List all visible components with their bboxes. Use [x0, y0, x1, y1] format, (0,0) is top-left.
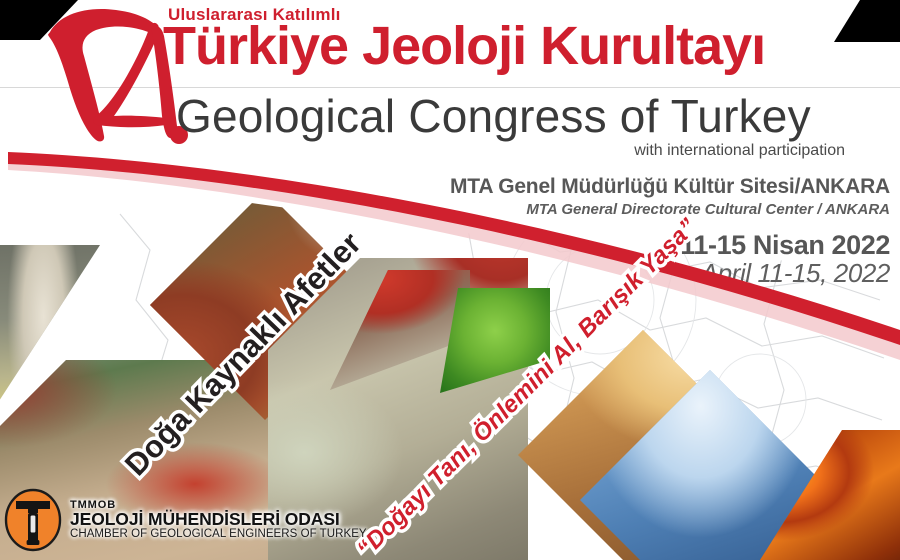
- logo-chamber-english: CHAMBER OF GEOLOGICAL ENGINEERS OF TURKE…: [70, 529, 367, 541]
- title-turkish: Türkiye Jeoloji Kurultayı: [163, 19, 765, 73]
- congress-poster: Uluslararası Katılımlı Türkiye Jeoloji K…: [0, 0, 900, 560]
- venue-name-turkish: MTA Genel Müdürlüğü Kültür Sitesi/ANKARA: [450, 175, 890, 199]
- title-english-subtitle: with international participation: [634, 142, 845, 160]
- title-english: Geological Congress of Turkey: [176, 93, 811, 139]
- logo-chamber-turkish: JEOLOJİ MÜHENDİSLERİ ODASI: [70, 511, 367, 529]
- tmmob-logo-text: TMMOB JEOLOJİ MÜHENDİSLERİ ODASI CHAMBER…: [70, 500, 367, 541]
- date-turkish: 11-15 Nisan 2022: [680, 230, 890, 261]
- geological-hammer-icon: [4, 488, 62, 552]
- tmmob-logo-block: TMMOB JEOLOJİ MÜHENDİSLERİ ODASI CHAMBER…: [4, 488, 367, 552]
- venue-name-english: MTA General Directorate Cultural Center …: [526, 201, 890, 218]
- date-english: April 11-15, 2022: [701, 258, 890, 289]
